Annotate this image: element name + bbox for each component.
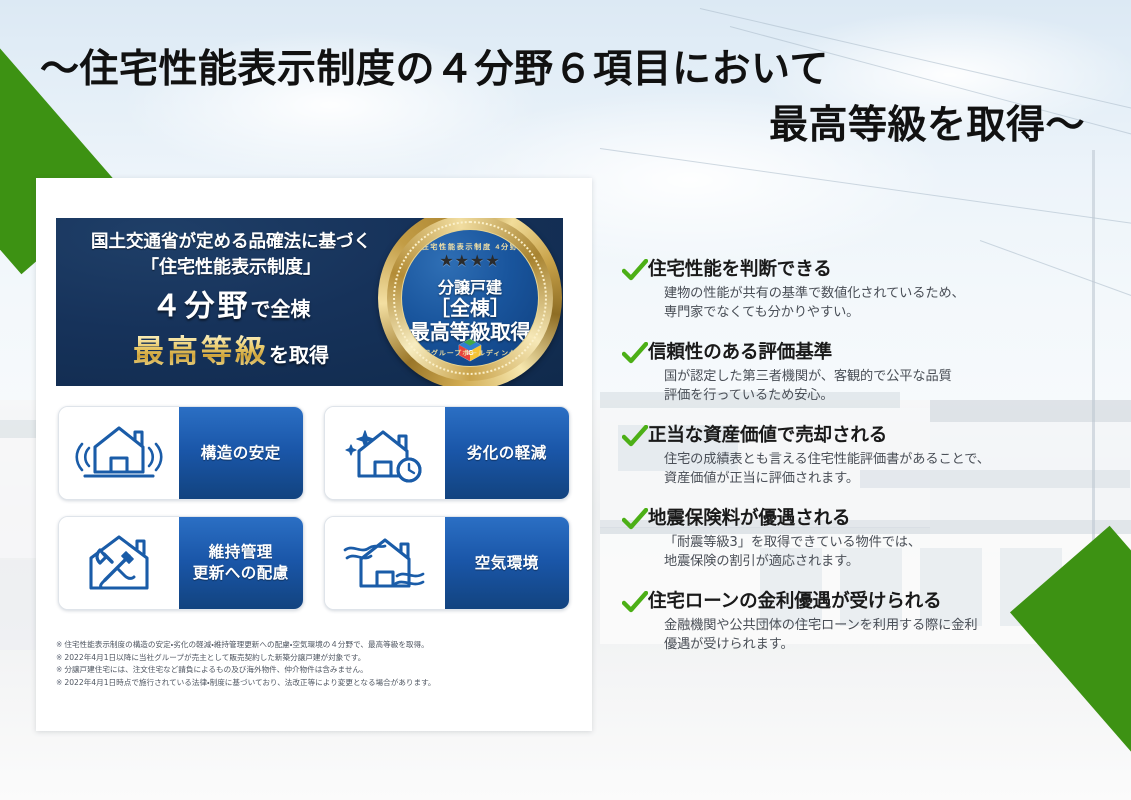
benefits-checklist: 住宅性能を判断できる 建物の性能が共有の基準で数値化されているため、 専門家でな… xyxy=(622,258,1122,654)
check-icon xyxy=(622,259,648,283)
navy-header-panel: 国土交通省が定める品確法に基づく 「住宅性能表示制度」 ４分野で全棟 最高等級を… xyxy=(56,218,563,386)
footnote-marker: ※ xyxy=(56,665,62,674)
house-sparkle-clock-icon xyxy=(325,407,445,499)
footnote-text: 2022年4月1日時点で施行されている法律・制度に基づいており、法改正等により変… xyxy=(64,678,435,687)
seal-inner-disc: 住宅性能表示制度 4分野 ★★★★ 分譲戸建 ［全棟］ 最高等級取得 IG 飯田… xyxy=(401,229,539,367)
check-icon xyxy=(622,508,648,532)
benefit-description: 建物の性能が共有の基準で数値化されているため、 専門家でなくても分かりやすい。 xyxy=(664,284,1122,322)
page-title-line-2: 最高等級を取得〜 xyxy=(0,98,1085,154)
navy-subtitle-line-2: 「住宅性能表示制度」 xyxy=(66,255,396,281)
footnote-text: 2022年4月1日以降に当社グループが売主として販売契約した新築分譲戸建が対象で… xyxy=(64,653,365,662)
navy-headline-line-1: ４分野で全棟 xyxy=(66,286,396,330)
footnote-item: ※2022年4月1日時点で施行されている法律・制度に基づいており、法改正等により… xyxy=(56,677,574,690)
navy-headline-line-2: 最高等級を取得 xyxy=(66,330,396,377)
list-item: 住宅ローンの金利優遇が受けられる 金融機関や公共団体の住宅ローンを利用する際に金… xyxy=(622,590,1122,654)
navy-headline-main: ４分野 xyxy=(152,289,251,324)
list-item: 住宅性能を判断できる 建物の性能が共有の基準で数値化されているため、 専門家でな… xyxy=(622,258,1122,322)
navy-gold-suffix: を取得 xyxy=(269,343,329,367)
footnote-marker: ※ xyxy=(56,640,62,649)
house-vibration-icon xyxy=(59,407,179,499)
benefit-title: 住宅ローンの金利優遇が受けられる xyxy=(648,590,1122,614)
feature-box-deterioration-reduction[interactable]: 劣化の軽減 xyxy=(324,406,570,500)
benefit-title: 信頼性のある評価基準 xyxy=(648,341,1122,365)
feature-box-air-environment[interactable]: 空気環境 xyxy=(324,516,570,610)
page-title-line-1: 〜住宅性能表示制度の４分野６項目において xyxy=(0,42,1085,98)
benefit-description: 金融機関や公共団体の住宅ローンを利用する際に金利 優遇が受けられます。 xyxy=(664,616,1122,654)
page-title: 〜住宅性能表示制度の４分野６項目において 最高等級を取得〜 xyxy=(0,42,1085,154)
house-tools-icon xyxy=(59,517,179,609)
feature-label: 構造の安定 xyxy=(179,407,303,499)
footnotes: ※住宅性能表示制度の構造の安定・劣化の軽減・維持管理更新への配慮・空気環境の４分… xyxy=(56,639,574,689)
footnote-marker: ※ xyxy=(56,678,62,687)
check-icon xyxy=(622,425,648,449)
feature-label: 空気環境 xyxy=(445,517,569,609)
benefit-description: 住宅の成績表とも言える住宅性能評価書があることで、 資産価値が正当に評価されます… xyxy=(664,450,1122,488)
benefit-title: 地震保険料が優遇される xyxy=(648,507,1122,531)
feature-box-structural-stability[interactable]: 構造の安定 xyxy=(58,406,304,500)
navy-header-text: 国土交通省が定める品確法に基づく 「住宅性能表示制度」 ４分野で全棟 最高等級を… xyxy=(66,230,396,377)
footnote-text: 住宅性能表示制度の構造の安定・劣化の軽減・維持管理更新への配慮・空気環境の４分野… xyxy=(64,640,428,649)
navy-subtitle-line-1: 国土交通省が定める品確法に基づく xyxy=(66,230,396,255)
footnote-item: ※住宅性能表示制度の構造の安定・劣化の軽減・維持管理更新への配慮・空気環境の４分… xyxy=(56,639,574,652)
performance-categories: 構造の安定 劣化の軽減 xyxy=(58,406,570,610)
navy-gold-text: 最高等級 xyxy=(133,334,269,370)
certification-card: 国土交通省が定める品確法に基づく 「住宅性能表示制度」 ４分野で全棟 最高等級を… xyxy=(36,178,592,731)
list-item: 正当な資産価値で売却される 住宅の成績表とも言える住宅性能評価書があることで、 … xyxy=(622,424,1122,488)
gold-certification-seal: 住宅性能表示制度 4分野 ★★★★ 分譲戸建 ［全棟］ 最高等級取得 IG 飯田… xyxy=(378,218,562,386)
feature-label: 劣化の軽減 xyxy=(445,407,569,499)
check-icon xyxy=(622,591,648,615)
seal-arc-bottom-text: 飯田グループホールディングス xyxy=(402,349,538,358)
footnote-item: ※分譲戸建住宅には、注文住宅など請負によるもの及び海外物件、仲介物件は含みません… xyxy=(56,664,574,677)
benefit-description: 国が認定した第三者機関が、客観的で公平な品質 評価を行っているため安心。 xyxy=(664,367,1122,405)
seal-stars-icon: ★★★★ xyxy=(402,254,538,270)
check-icon xyxy=(622,342,648,366)
footnote-marker: ※ xyxy=(56,653,62,662)
list-item: 信頼性のある評価基準 国が認定した第三者機関が、客観的で公平な品質 評価を行って… xyxy=(622,341,1122,405)
benefit-title: 住宅性能を判断できる xyxy=(648,258,1122,282)
slide-canvas: 〜住宅性能表示制度の４分野６項目において 最高等級を取得〜 国土交通省が定める品… xyxy=(0,0,1131,800)
benefit-description: 「耐震等級3」を取得できている物件では、 地震保険の割引が適応されます。 xyxy=(664,533,1122,571)
house-airflow-icon xyxy=(325,517,445,609)
navy-headline-suffix: で全棟 xyxy=(251,297,311,321)
feature-box-maintenance-consideration[interactable]: 維持管理 更新への配慮 xyxy=(58,516,304,610)
seal-arc-top-text: 住宅性能表示制度 4分野 xyxy=(402,242,538,251)
benefit-title: 正当な資産価値で売却される xyxy=(648,424,1122,448)
list-item: 地震保険料が優遇される 「耐震等級3」を取得できている物件では、 地震保険の割引… xyxy=(622,507,1122,571)
footnote-text: 分譲戸建住宅には、注文住宅など請負によるもの及び海外物件、仲介物件は含みません。 xyxy=(64,665,367,674)
feature-label: 維持管理 更新への配慮 xyxy=(179,517,303,609)
footnote-item: ※2022年4月1日以降に当社グループが売主として販売契約した新築分譲戸建が対象… xyxy=(56,652,574,665)
